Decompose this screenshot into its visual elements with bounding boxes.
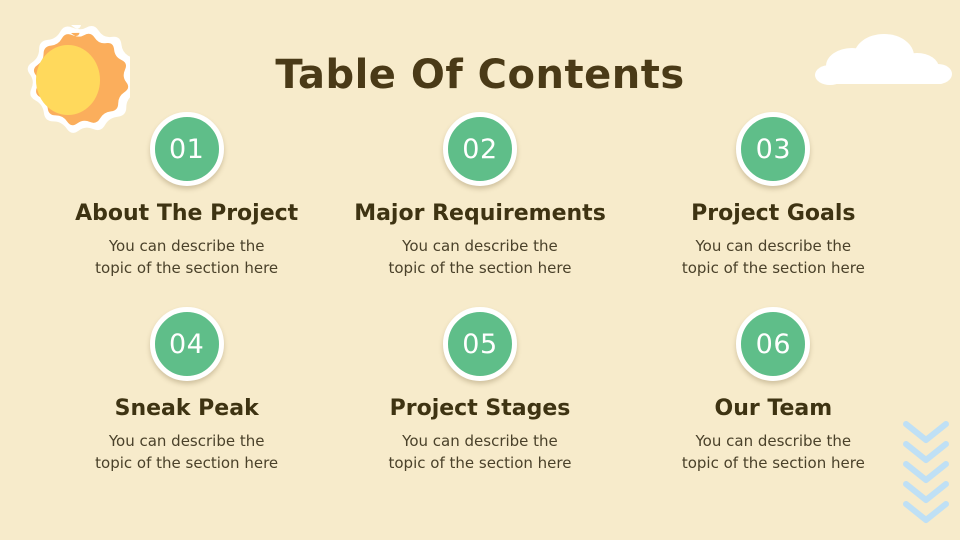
entry-title-03: Project Goals <box>691 202 855 226</box>
slide-table-of-contents: Table Of Contents 01 About The Project Y… <box>0 0 960 540</box>
badge-number-label: 04 <box>169 331 204 358</box>
badge-number-label: 05 <box>462 331 497 358</box>
number-badge-03: 03 <box>736 112 810 186</box>
badge-number-label: 02 <box>462 136 497 163</box>
entry-title-05: Project Stages <box>390 397 571 421</box>
toc-entry-01[interactable]: 01 About The Project You can describe th… <box>40 112 333 307</box>
entry-title-06: Our Team <box>715 397 833 421</box>
toc-entry-06[interactable]: 06 Our Team You can describe thetopic of… <box>627 307 920 502</box>
entry-title-04: Sneak Peak <box>115 397 259 421</box>
number-badge-01: 01 <box>150 112 224 186</box>
number-badge-04: 04 <box>150 307 224 381</box>
entry-title-01: About The Project <box>75 202 298 226</box>
entry-title-02: Major Requirements <box>354 202 606 226</box>
toc-entry-02[interactable]: 02 Major Requirements You can describe t… <box>333 112 626 307</box>
number-badge-06: 06 <box>736 307 810 381</box>
badge-number-label: 06 <box>756 331 791 358</box>
badge-number-label: 01 <box>169 136 204 163</box>
entry-description-04: You can describe thetopic of the section… <box>95 431 278 475</box>
page-title: Table Of Contents <box>0 52 960 98</box>
toc-entry-03[interactable]: 03 Project Goals You can describe thetop… <box>627 112 920 307</box>
badge-number-label: 03 <box>756 136 791 163</box>
toc-entry-04[interactable]: 04 Sneak Peak You can describe thetopic … <box>40 307 333 502</box>
entry-description-02: You can describe thetopic of the section… <box>389 236 572 280</box>
entry-description-06: You can describe thetopic of the section… <box>682 431 865 475</box>
entry-description-01: You can describe thetopic of the section… <box>95 236 278 280</box>
entry-description-03: You can describe thetopic of the section… <box>682 236 865 280</box>
contents-grid: 01 About The Project You can describe th… <box>40 112 920 502</box>
entry-description-05: You can describe thetopic of the section… <box>389 431 572 475</box>
toc-entry-05[interactable]: 05 Project Stages You can describe theto… <box>333 307 626 502</box>
number-badge-02: 02 <box>443 112 517 186</box>
number-badge-05: 05 <box>443 307 517 381</box>
